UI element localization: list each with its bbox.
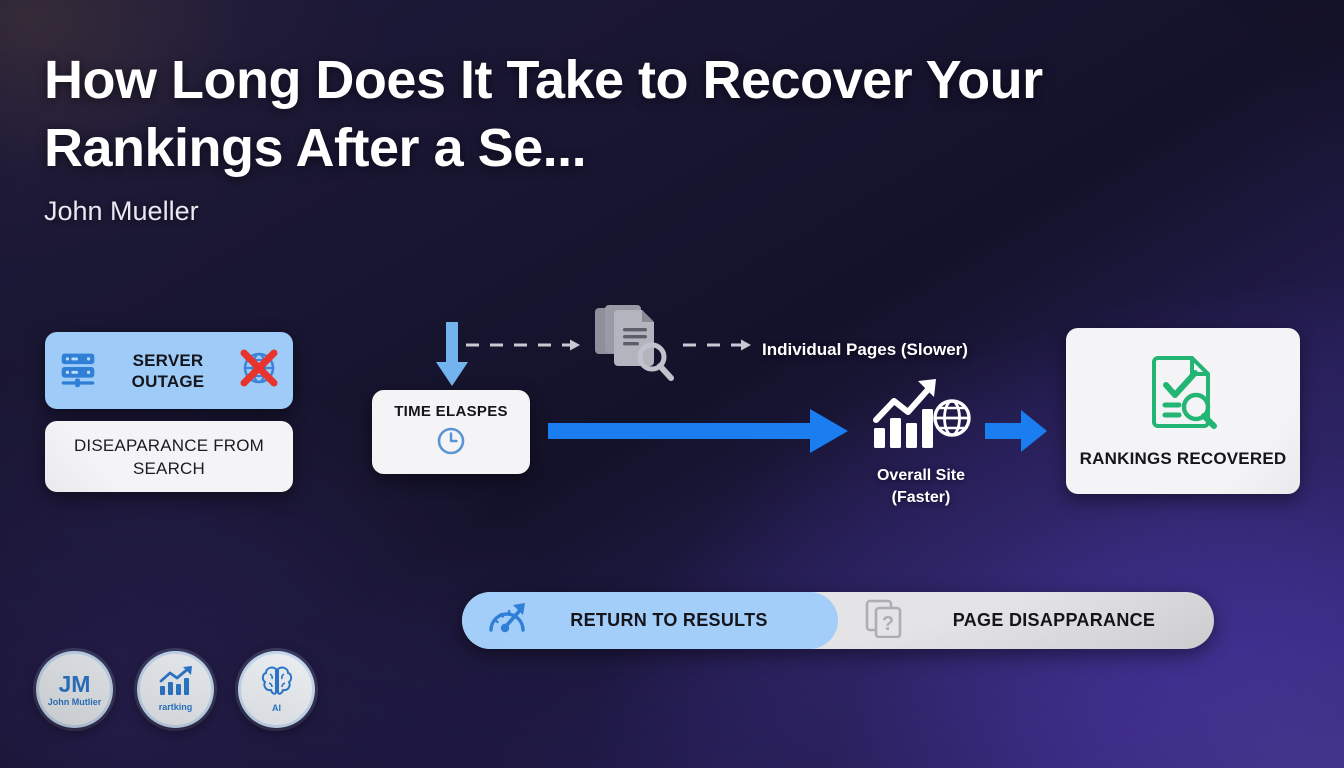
avatar-caption: rartking bbox=[159, 702, 193, 713]
dashed-arrow-icon bbox=[466, 338, 584, 357]
avatar-group: JM John Mutlier rartking bbox=[36, 651, 315, 728]
avatar-ranking[interactable]: rartking bbox=[137, 651, 214, 728]
growth-chart-globe-icon bbox=[868, 376, 972, 457]
avatar-john-mutlier[interactable]: JM John Mutlier bbox=[36, 651, 113, 728]
long-right-arrow-icon bbox=[548, 406, 850, 461]
avatar-initials: JM bbox=[59, 672, 91, 696]
time-elapses-label: TIME ELASPES bbox=[394, 403, 508, 420]
page-title: How Long Does It Take to Recover Your Ra… bbox=[44, 46, 1104, 182]
time-elapses-card[interactable]: TIME ELASPES bbox=[372, 390, 530, 474]
svg-text:?: ? bbox=[882, 613, 894, 635]
toggle-segment-return-to-results[interactable]: RETURN TO RESULTS bbox=[462, 592, 838, 649]
documents-search-icon bbox=[592, 302, 678, 389]
page-subtitle: John Mueller bbox=[44, 196, 1104, 227]
server-outage-card[interactable]: SERVER OUTAGE bbox=[45, 332, 293, 409]
toggle-segment-label-inactive: PAGE DISAPPARANCE bbox=[920, 610, 1188, 631]
individual-pages-label: Individual Pages (Slower) bbox=[762, 340, 968, 360]
short-right-arrow-icon bbox=[985, 406, 1049, 461]
rankings-recovered-label: RANKINGS RECOVERED bbox=[1080, 448, 1287, 470]
toggle-segment-label-active: RETURN TO RESULTS bbox=[544, 610, 794, 631]
document-check-search-icon bbox=[1146, 353, 1220, 436]
slide-canvas: How Long Does It Take to Recover Your Ra… bbox=[0, 0, 1344, 768]
server-outage-label: SERVER OUTAGE bbox=[109, 350, 227, 392]
toggle-bar[interactable]: RETURN TO RESULTS ? PAGE DISAPPARANCE bbox=[462, 592, 1214, 649]
globe-crossed-out-icon bbox=[235, 344, 283, 397]
disappearance-label: DISEAPARANCE FROM SEARCH bbox=[45, 434, 293, 480]
dashed-arrow-icon-2 bbox=[683, 338, 755, 357]
overall-site-label: Overall Site (Faster) bbox=[850, 465, 992, 509]
server-icon bbox=[55, 345, 101, 396]
down-arrow-icon bbox=[432, 322, 472, 393]
rankings-recovered-card[interactable]: RANKINGS RECOVERED bbox=[1066, 328, 1300, 494]
avatar-caption: John Mutlier bbox=[48, 697, 102, 708]
toggle-segment-page-disapparance[interactable]: ? PAGE DISAPPARANCE bbox=[838, 592, 1214, 649]
clock-icon bbox=[436, 426, 466, 461]
disappearance-from-search-card[interactable]: DISEAPARANCE FROM SEARCH bbox=[45, 421, 293, 492]
avatar-caption: AI bbox=[272, 703, 281, 714]
growth-chart-icon bbox=[157, 666, 195, 701]
avatar-ai[interactable]: AI bbox=[238, 651, 315, 728]
speedometer-icon bbox=[488, 600, 528, 641]
header: How Long Does It Take to Recover Your Ra… bbox=[44, 46, 1104, 227]
pages-question-icon: ? bbox=[864, 598, 904, 643]
brain-icon bbox=[259, 665, 295, 702]
